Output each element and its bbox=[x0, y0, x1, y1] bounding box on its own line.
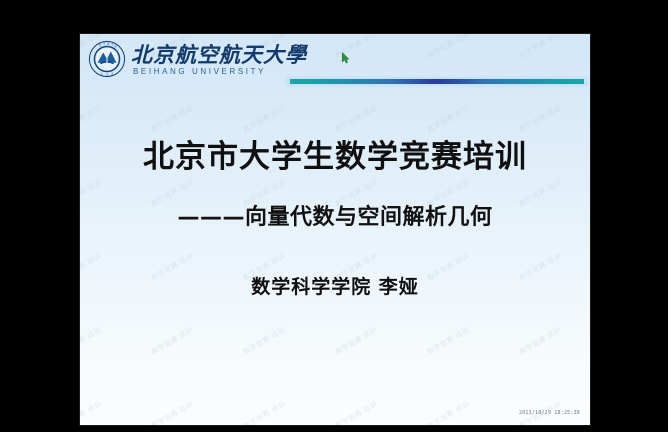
university-wordmark: 北京航空航天大學 BEIHANG UNIVERSITY bbox=[131, 43, 307, 77]
svg-text:京: 京 bbox=[103, 42, 106, 46]
svg-text:学: 学 bbox=[106, 72, 109, 76]
watermark-text: 数学竞赛 培训 bbox=[334, 103, 380, 135]
presentation-slide: 数学竞赛 培训数学竞赛 培训数学竞赛 培训数学竞赛 培训数学竞赛 培训数学竞赛 … bbox=[80, 34, 590, 425]
slide-header: 北 京 航 空 航 大 学 天 北京航空航天大學 bbox=[80, 34, 590, 96]
watermark-text: 数学竞赛 培训 bbox=[242, 103, 288, 135]
watermark-text: 数学竞赛 培训 bbox=[150, 399, 196, 425]
watermark-text: 数学竞赛 培训 bbox=[150, 103, 196, 135]
watermark-text: 数学竞赛 培训 bbox=[518, 325, 564, 357]
watermark-text: 数学竞赛 培训 bbox=[242, 399, 288, 425]
slide-subtitle: ———向量代数与空间解析几何 bbox=[80, 204, 590, 232]
watermark-text: 数学竞赛 培训 bbox=[426, 325, 472, 357]
svg-text:北: 北 bbox=[99, 43, 102, 47]
watermark-text: 数学竞赛 培训 bbox=[80, 325, 103, 357]
university-name-en: BEIHANG UNIVERSITY bbox=[131, 66, 307, 77]
beihang-university-seal-icon: 北 京 航 空 航 大 学 天 bbox=[88, 40, 126, 78]
page-title: 北京市大学生数学竞赛培训 bbox=[80, 138, 590, 176]
watermark-text: 数学竞赛 培训 bbox=[426, 103, 472, 135]
svg-text:大: 大 bbox=[100, 72, 103, 76]
watermark-text: 数学竞赛 培训 bbox=[150, 325, 196, 357]
watermark-text: 数学竞赛 培训 bbox=[334, 399, 380, 425]
header-accent-rule bbox=[290, 79, 584, 84]
watermark-text: 数学竞赛 培训 bbox=[242, 325, 288, 357]
video-player-frame: 数学竞赛 培训数学竞赛 培训数学竞赛 培训数学竞赛 培训数学竞赛 培训数学竞赛 … bbox=[0, 0, 668, 432]
slide-presenter: 数学科学学院 李娅 bbox=[80, 274, 590, 300]
watermark-text: 数学竞赛 培训 bbox=[334, 325, 380, 357]
recording-timestamp: 2013/10/29 18:25:38 bbox=[519, 410, 580, 417]
watermark-text: 数学竞赛 培训 bbox=[80, 399, 103, 425]
watermark-text: 数学竞赛 培训 bbox=[426, 399, 472, 425]
presenter-pointer-icon bbox=[338, 50, 351, 65]
university-logo-lockup: 北 京 航 空 航 大 学 天 北京航空航天大學 bbox=[88, 40, 307, 78]
watermark-text: 数学竞赛 培训 bbox=[518, 103, 564, 135]
university-name-cn: 北京航空航天大學 bbox=[131, 43, 307, 66]
watermark-text: 数学竞赛 培训 bbox=[80, 103, 103, 135]
